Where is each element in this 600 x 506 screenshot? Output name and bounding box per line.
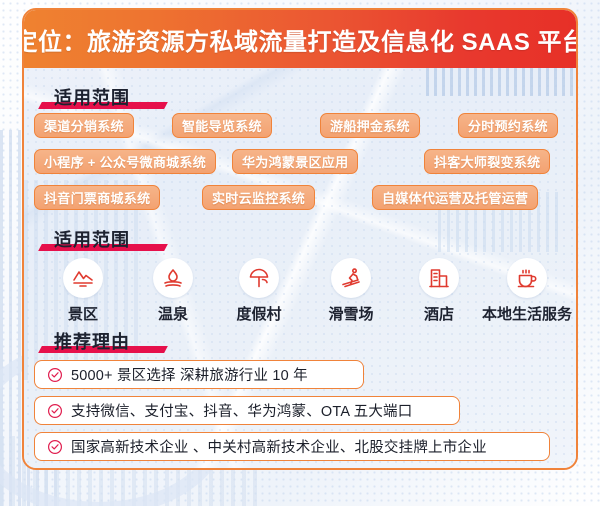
tag-chip[interactable]: 游船押金系统 (320, 113, 420, 138)
tag-chip[interactable]: 自媒体代运营及托管运营 (372, 185, 538, 210)
industry-label: 酒店 (424, 303, 454, 324)
check-circle-icon (47, 439, 63, 455)
reason-row[interactable]: 支持微信、支付宝、抖音、华为鸿蒙、OTA 五大端口 (34, 396, 460, 425)
industry-label: 滑雪场 (328, 303, 373, 324)
industry-label: 本地生活服务 (482, 303, 572, 324)
check-circle-icon (47, 367, 63, 383)
industry-item[interactable]: 温泉 (136, 258, 210, 324)
hot-spring-icon (153, 258, 193, 298)
industry-item[interactable]: 度假村 (222, 258, 296, 324)
industry-label: 温泉 (158, 303, 188, 324)
tag-chip[interactable]: 智能导览系统 (172, 113, 272, 138)
section-heading-scope: 适用范围 (50, 84, 134, 110)
poster-canvas: 定位：旅游资源方私域流量打造及信息化 SAAS 平台 适用范围 渠道分销系统 智… (0, 0, 600, 506)
mountain-icon (63, 258, 103, 298)
building-icon (419, 258, 459, 298)
check-circle-icon (47, 403, 63, 419)
tag-chip[interactable]: 华为鸿蒙景区应用 (232, 149, 358, 174)
tag-chip[interactable]: 分时预约系统 (458, 113, 558, 138)
tag-chip[interactable]: 抖客大师裂变系统 (424, 149, 550, 174)
content-card: 定位：旅游资源方私域流量打造及信息化 SAAS 平台 适用范围 渠道分销系统 智… (22, 8, 578, 470)
tag-chip[interactable]: 小程序 + 公众号微商城系统 (34, 149, 216, 174)
industry-item[interactable]: 滑雪场 (314, 258, 388, 324)
industry-label: 度假村 (236, 303, 281, 324)
section-heading-reasons: 推荐理由 (50, 328, 134, 354)
reason-row[interactable]: 5000+ 景区选择 深耕旅游行业 10 年 (34, 360, 364, 389)
industry-item[interactable]: 景区 (46, 258, 120, 324)
reason-text: 支持微信、支付宝、抖音、华为鸿蒙、OTA 五大端口 (71, 400, 412, 421)
industry-item[interactable]: 酒店 (402, 258, 476, 324)
card-title-bar: 定位：旅游资源方私域流量打造及信息化 SAAS 平台 (24, 10, 576, 68)
section-heading-scope-label: 适用范围 (50, 84, 134, 110)
skier-icon (331, 258, 371, 298)
coffee-cup-icon (507, 258, 547, 298)
industry-label: 景区 (68, 303, 98, 324)
page-title: 定位：旅游资源方私域流量打造及信息化 SAAS 平台 (22, 22, 578, 57)
reason-row[interactable]: 国家高新技术企业 、中关村高新技术企业、北股交挂牌上市企业 (34, 432, 550, 461)
industry-item[interactable]: 本地生活服务 (490, 258, 564, 324)
section-heading-reasons-label: 推荐理由 (50, 328, 134, 354)
reason-text: 5000+ 景区选择 深耕旅游行业 10 年 (71, 364, 308, 385)
tag-chip[interactable]: 实时云监控系统 (202, 185, 315, 210)
tag-chip[interactable]: 渠道分销系统 (34, 113, 134, 138)
beach-umbrella-icon (239, 258, 279, 298)
tag-chip[interactable]: 抖音门票商城系统 (34, 185, 160, 210)
reason-text: 国家高新技术企业 、中关村高新技术企业、北股交挂牌上市企业 (71, 436, 487, 457)
section-heading-industries-label: 适用范围 (50, 226, 134, 252)
section-heading-industries: 适用范围 (50, 226, 134, 252)
